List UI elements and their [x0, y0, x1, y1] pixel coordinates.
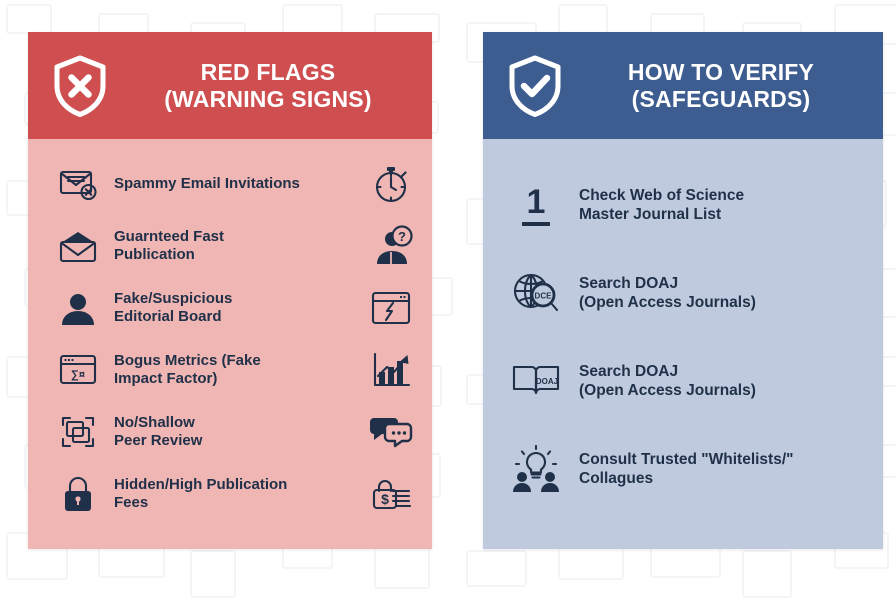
- label-line2: Peer Review: [114, 432, 368, 450]
- person-icon: [56, 288, 100, 328]
- list-item[interactable]: Spammy Email Invitations: [28, 153, 432, 215]
- list-item[interactable]: 1 Check Web of Science Master Journal Li…: [483, 161, 883, 249]
- open-envelope-icon: [56, 226, 100, 266]
- person-question-icon: ?: [368, 225, 414, 267]
- label-line2: Publication: [114, 246, 368, 264]
- label-line1: Fake/Suspicious: [114, 290, 368, 308]
- globe-search-icon: DCE: [507, 269, 565, 317]
- growth-chart-icon: [368, 349, 414, 391]
- list-item-label: Fake/Suspicious Editorial Board: [114, 290, 368, 327]
- list-item-label: Spammy Email Invitations: [114, 175, 368, 193]
- red-flags-title-line1: RED FLAGS: [201, 59, 336, 85]
- list-item-label: Guarnteed Fast Publication: [114, 228, 368, 265]
- list-item-label: No/Shallow Peer Review: [114, 414, 368, 451]
- label-line1: Spammy Email Invitations: [114, 175, 300, 192]
- list-item[interactable]: Guarnteed Fast Publication ?: [28, 215, 432, 277]
- how-to-verify-title: HOW TO VERIFY (SAFEGUARDS): [577, 59, 883, 112]
- list-item-label: Hidden/High Publication Fees: [114, 476, 368, 513]
- label-line1: Consult Trusted "Whitelists/": [579, 450, 865, 469]
- money-lock-icon: $: [368, 473, 414, 515]
- red-flags-header: RED FLAGS (WARNING SIGNS): [28, 32, 432, 139]
- list-item[interactable]: ∑¤ Bogus Metrics (Fake Impact Factor): [28, 339, 432, 401]
- label-line2: Collagues: [579, 469, 865, 488]
- list-item-label: Consult Trusted "Whitelists/" Collagues: [579, 450, 865, 488]
- label-line1: Hidden/High Publication: [114, 476, 368, 494]
- red-flags-panel: RED FLAGS (WARNING SIGNS) Spammy Em: [28, 32, 432, 549]
- list-item[interactable]: No/Shallow Peer Review: [28, 401, 432, 463]
- list-item-label: Check Web of Science Master Journal List: [579, 186, 865, 224]
- red-flags-title: RED FLAGS (WARNING SIGNS): [122, 59, 432, 112]
- label-line1: Bogus Metrics (Fake: [114, 352, 368, 370]
- label-line2: Fees: [114, 494, 368, 512]
- how-to-verify-panel: HOW TO VERIFY (SAFEGUARDS) 1 Check Web o…: [483, 32, 883, 549]
- how-to-verify-title-line1: HOW TO VERIFY: [628, 59, 814, 85]
- list-item[interactable]: Hidden/High Publication Fees $: [28, 463, 432, 525]
- book-icon-text: DOAJ: [536, 377, 558, 386]
- svg-text:∑¤: ∑¤: [71, 369, 85, 381]
- label-line2: Editorial Board: [114, 308, 368, 326]
- browser-metrics-icon: ∑¤: [56, 350, 100, 390]
- duplicate-frames-icon: [56, 412, 100, 452]
- label-line1: Check Web of Science: [579, 186, 865, 205]
- lightbulb-people-icon: [507, 445, 565, 493]
- shield-x-icon: [52, 55, 108, 117]
- label-line1: Search DOAJ: [579, 362, 865, 381]
- label-line2: Master Journal List: [579, 205, 865, 224]
- list-item-label: Bogus Metrics (Fake Impact Factor): [114, 352, 368, 389]
- label-line1: Search DOAJ: [579, 274, 865, 293]
- label-line1: No/Shallow: [114, 414, 368, 432]
- browser-window-crack-icon: [368, 287, 414, 329]
- label-line2: (Open Access Journals): [579, 381, 865, 400]
- chat-bubbles-icon: [368, 411, 414, 453]
- label-line2: Impact Factor): [114, 370, 368, 388]
- list-item-label: Search DOAJ (Open Access Journals): [579, 362, 865, 400]
- how-to-verify-title-line2: (SAFEGUARDS): [577, 86, 865, 113]
- padlock-icon: [56, 474, 100, 514]
- step-number-badge: 1: [507, 181, 565, 229]
- svg-text:$: $: [381, 491, 389, 507]
- infographic-stage: RED FLAGS (WARNING SIGNS) Spammy Em: [0, 0, 896, 572]
- how-to-verify-header: HOW TO VERIFY (SAFEGUARDS): [483, 32, 883, 139]
- list-item[interactable]: DOAJ Search DOAJ (Open Access Journals): [483, 337, 883, 425]
- how-to-verify-list: 1 Check Web of Science Master Journal Li…: [483, 139, 883, 513]
- list-item[interactable]: Consult Trusted "Whitelists/" Collagues: [483, 425, 883, 513]
- step-number: 1: [522, 185, 551, 226]
- shield-check-icon: [507, 55, 563, 117]
- list-item-label: Search DOAJ (Open Access Journals): [579, 274, 865, 312]
- list-item[interactable]: DCE Search DOAJ (Open Access Journals): [483, 249, 883, 337]
- stopwatch-icon: [368, 163, 414, 205]
- globe-icon-text: DCE: [535, 292, 553, 301]
- label-line2: (Open Access Journals): [579, 293, 865, 312]
- red-flags-title-line2: (WARNING SIGNS): [122, 86, 414, 113]
- svg-text:?: ?: [398, 229, 406, 244]
- email-spam-icon: [56, 164, 100, 204]
- open-book-icon: DOAJ: [507, 357, 565, 405]
- red-flags-list: Spammy Email Invitations: [28, 139, 432, 525]
- label-line1: Guarnteed Fast: [114, 228, 368, 246]
- list-item[interactable]: Fake/Suspicious Editorial Board: [28, 277, 432, 339]
